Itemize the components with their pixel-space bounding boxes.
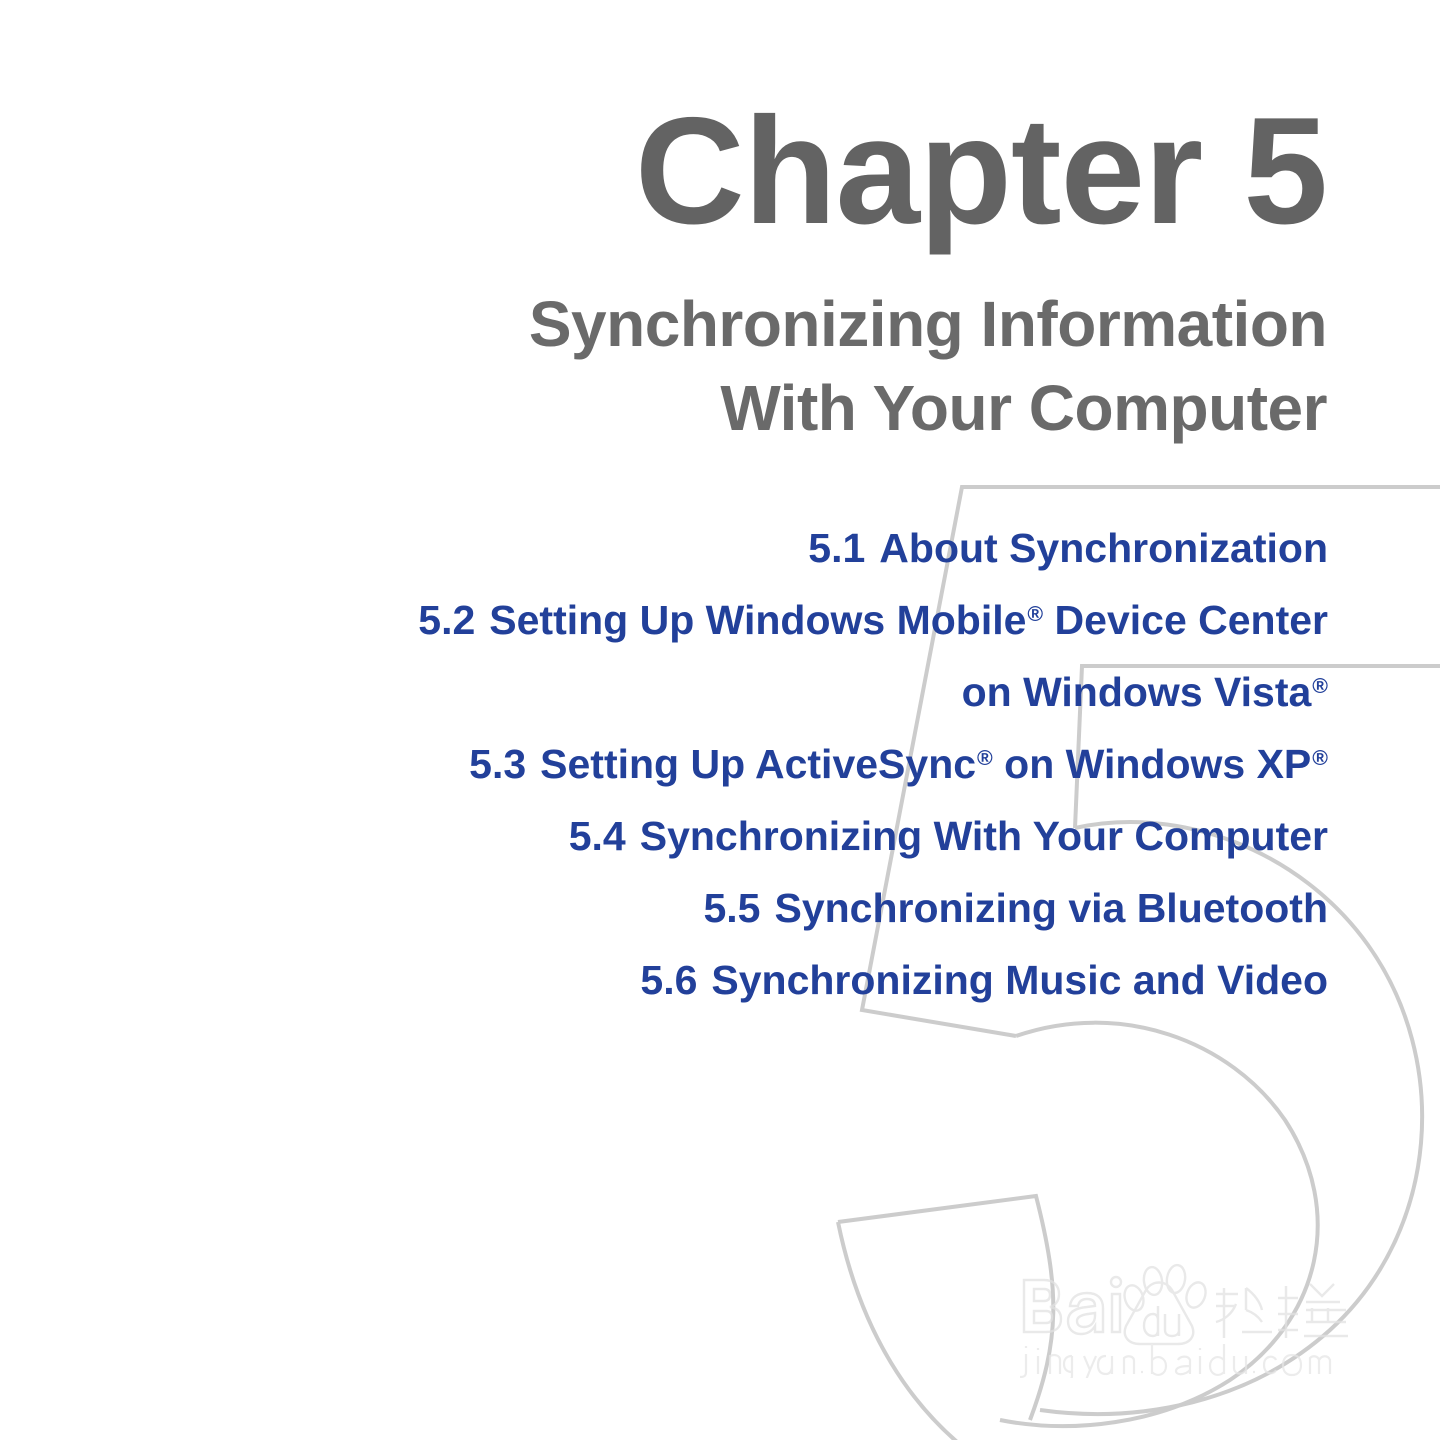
toc-entry-label-cont: Device Center (1043, 597, 1328, 643)
toc-entry-5-1[interactable]: 5.1About Synchronization (98, 512, 1328, 584)
toc-entry-label: Setting Up ActiveSync (540, 741, 976, 787)
chapter-subtitle-line-2: With Your Computer (127, 366, 1327, 450)
registered-trademark-icon: ® (1027, 602, 1043, 626)
toc-entry-number: 5.6 (640, 957, 697, 1003)
toc-entry-5-2[interactable]: 5.2Setting Up Windows Mobile® Device Cen… (98, 584, 1328, 728)
toc-entry-label: Synchronizing via Bluetooth (774, 885, 1328, 931)
chapter-subtitle: Synchronizing Information With Your Comp… (127, 282, 1327, 450)
toc-entry-label-wrap: on Windows Vista (962, 669, 1312, 715)
toc-entry-line-2: on Windows Vista® (98, 656, 1328, 728)
page-title: Chapter 5 (127, 95, 1327, 247)
chapter-subtitle-line-1: Synchronizing Information (127, 282, 1327, 366)
toc-entry-label: About Synchronization (879, 525, 1328, 571)
chapter-contents-list: 5.1About Synchronization 5.2Setting Up W… (98, 512, 1328, 1016)
toc-entry-5-3[interactable]: 5.3Setting Up ActiveSync® on Windows XP® (98, 728, 1328, 800)
toc-entry-number: 5.1 (808, 525, 865, 571)
toc-entry-number: 5.5 (703, 885, 760, 931)
registered-trademark-icon: ® (1312, 746, 1328, 770)
toc-entry-label: Synchronizing With Your Computer (640, 813, 1328, 859)
toc-entry-number: 5.4 (569, 813, 626, 859)
toc-entry-label: Setting Up Windows Mobile (489, 597, 1026, 643)
chapter-cover-page: Chapter 5 Synchronizing Information With… (0, 0, 1440, 1440)
registered-trademark-icon: ® (977, 746, 993, 770)
toc-entry-5-6[interactable]: 5.6Synchronizing Music and Video (98, 944, 1328, 1016)
toc-entry-label: Synchronizing Music and Video (711, 957, 1328, 1003)
toc-entry-5-5[interactable]: 5.5Synchronizing via Bluetooth (98, 872, 1328, 944)
toc-entry-number: 5.2 (418, 597, 475, 643)
toc-entry-line-1: 5.2Setting Up Windows Mobile® Device Cen… (98, 584, 1328, 656)
toc-entry-5-4[interactable]: 5.4Synchronizing With Your Computer (98, 800, 1328, 872)
registered-trademark-icon: ® (1312, 674, 1328, 698)
toc-entry-label-cont: on Windows XP (993, 741, 1312, 787)
cover-text-block: Chapter 5 Synchronizing Information With… (0, 0, 1440, 1440)
toc-entry-number: 5.3 (469, 741, 526, 787)
